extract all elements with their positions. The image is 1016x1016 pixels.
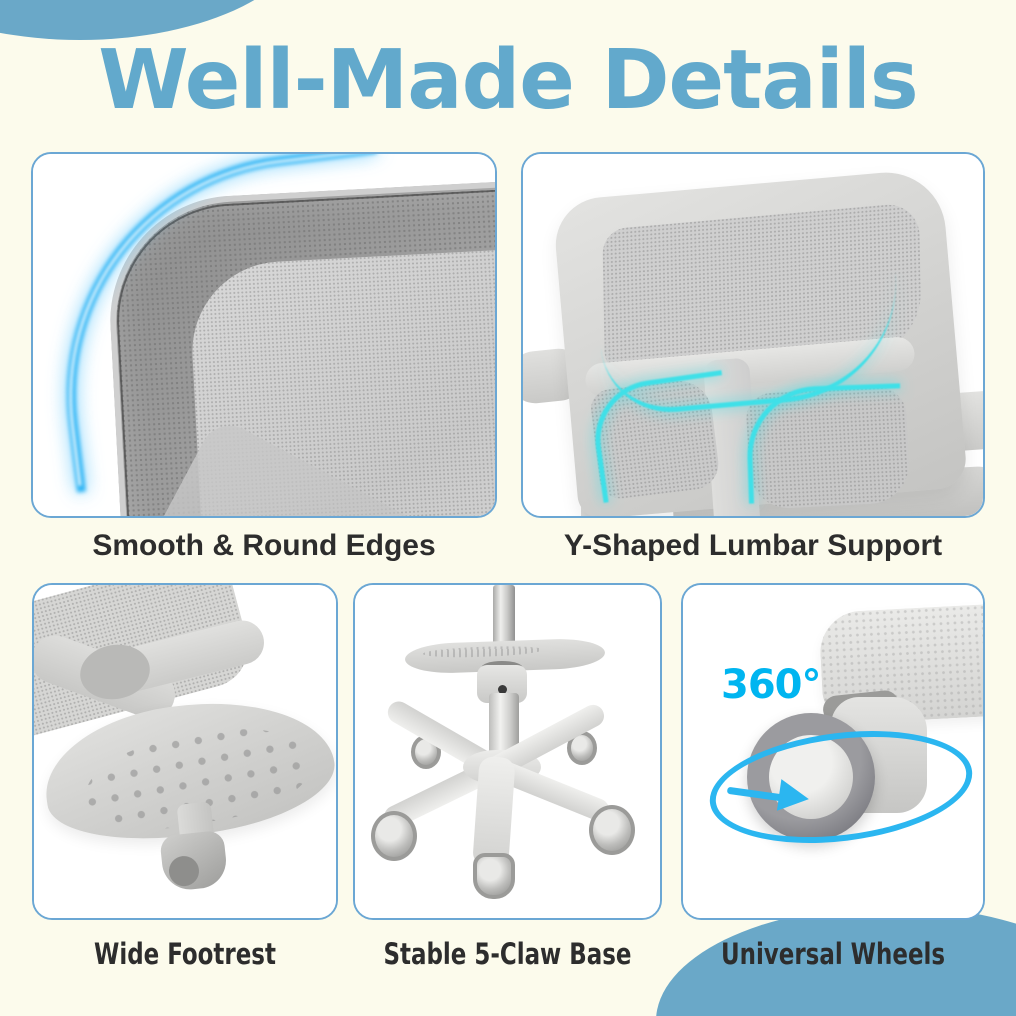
- feature-card-stable-5-claw-base: [353, 583, 662, 920]
- feature-image-y-shaped-lumbar-support: [523, 154, 983, 516]
- caster-wheel: [589, 805, 635, 855]
- page-title: Well-Made Details: [0, 36, 1016, 126]
- rotation-arrow-head-icon: [777, 779, 811, 815]
- feature-caption-universal-wheels: Universal Wheels: [699, 937, 967, 971]
- feature-caption-stable-5-claw-base: Stable 5-Claw Base: [372, 937, 644, 971]
- white-edge-glow-arc: [42, 154, 405, 486]
- feature-card-wide-footrest: [32, 583, 338, 920]
- infographic-canvas: Well-Made Details Smooth & Round Edges: [0, 0, 1016, 1016]
- feature-card-smooth-round-edges: [31, 152, 497, 518]
- feature-caption-wide-footrest: Wide Footrest: [50, 937, 319, 971]
- base-leg: [472, 756, 516, 868]
- feature-image-universal-wheels: 360°: [683, 585, 983, 918]
- feature-caption-smooth-round-edges: Smooth & Round Edges: [31, 528, 497, 564]
- caster-wheel: [473, 853, 515, 899]
- caster-wheel: [159, 830, 229, 892]
- caster-wheel: [371, 811, 417, 861]
- feature-image-smooth-round-edges: [33, 154, 495, 516]
- feature-image-stable-5-claw-base: [355, 585, 660, 918]
- feature-card-y-shaped-lumbar-support: [521, 152, 985, 518]
- feature-caption-y-shaped-lumbar-support: Y-Shaped Lumbar Support: [521, 528, 985, 564]
- rotation-orbit-ring-icon: [703, 717, 978, 856]
- rotation-degree-badge: 360°: [721, 663, 821, 707]
- feature-card-universal-wheels: 360°: [681, 583, 985, 920]
- feature-image-wide-footrest: [34, 585, 336, 918]
